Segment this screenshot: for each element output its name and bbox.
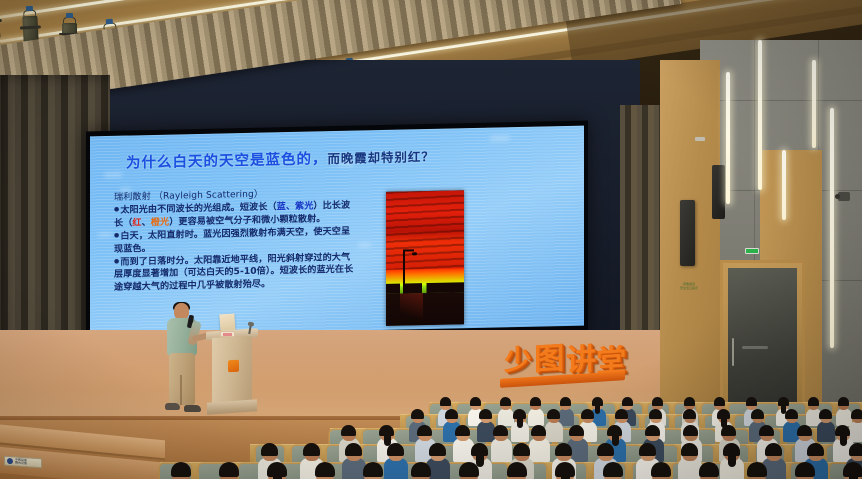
audience-member-hair [445, 409, 458, 419]
audience-member-hair [747, 462, 767, 477]
audience-member-hair [683, 425, 698, 436]
door-push-bar-icon[interactable] [742, 346, 768, 349]
audience-member-ponytail [517, 418, 523, 428]
wall-sign-line-2: 安全出口指示 [680, 287, 698, 291]
slide-title-main: 为什么白天的天空是蓝色的， [126, 151, 328, 171]
audience-member-ponytail [476, 455, 484, 468]
audience-member-hair [751, 409, 764, 419]
audience-member-hair [417, 425, 432, 436]
vertical-led-strip-2 [758, 40, 762, 190]
wall-camera-icon [838, 192, 850, 201]
exit-sign-icon [745, 248, 759, 254]
auditorium-scene: 为什么白天的天空是蓝色的，而晚霞却特别红？ 瑞利散射 （Rayleigh Sca… [0, 0, 862, 479]
audience-member-body [849, 421, 862, 442]
audience-member-hair [714, 397, 726, 406]
audience-member-hair [622, 397, 634, 406]
audience-member-hair [851, 409, 862, 419]
audience-member-hair [455, 425, 470, 436]
audience-member-hair [615, 409, 628, 419]
audience-member-hair [607, 425, 622, 436]
bullet-segment: 、 [142, 218, 151, 228]
audience-member-hair [440, 397, 452, 406]
slide-title-tail: 而晚霞却特别红？ [328, 149, 435, 166]
audience-member-ponytail [728, 455, 736, 468]
audience-member-body [491, 438, 512, 462]
audience-member-hair [835, 425, 850, 436]
audience-member-hair [808, 397, 820, 406]
audience-member-hair [843, 462, 862, 477]
slide-bullet: ●而到了日落时分。太阳靠近地平线，阳光斜射穿过的大气层厚度显著增加（可达白天的5… [114, 251, 359, 295]
bullet-marker-icon: ● [114, 206, 119, 213]
audience-member-hair [581, 409, 594, 419]
bullet-marker-icon: ● [114, 232, 119, 239]
audience-member-hair [797, 425, 812, 436]
audience-member-hair [363, 462, 383, 477]
bullet-marker-icon: ● [114, 258, 119, 265]
audience-member-hair [530, 397, 542, 406]
audience-member-hair [341, 425, 356, 436]
audience-member-hair [459, 462, 479, 477]
vertical-led-strip-1 [726, 72, 730, 204]
vertical-led-strip-3 [782, 150, 786, 220]
audience-member-body [384, 458, 408, 479]
audience-member-hair [684, 397, 696, 406]
sunset-photo-image [386, 190, 464, 326]
audience-member-hair [500, 397, 512, 406]
slide-bullet-list: ●太阳光由不同波长的光组成。短波长（蓝、紫光）比长波长（红、橙光）更容易被空气分… [114, 199, 359, 295]
audience-member-hair [267, 462, 287, 477]
bullet-segment: 而到了日落时分。太阳靠近地平线，阳光斜射穿过的大气层厚度显著增加（可达白天的5-… [114, 252, 353, 293]
audience-member-hair [652, 397, 664, 406]
audience-member-hair [645, 425, 660, 436]
audience-member-hair [507, 462, 527, 477]
audience-member-body [528, 408, 544, 427]
vertical-led-strip-5 [830, 108, 834, 348]
audience-member-hair [315, 462, 335, 477]
audience-member-hair [555, 462, 575, 477]
vertical-led-strip-4 [812, 60, 816, 148]
wall-speaker-secondary-icon [712, 165, 725, 219]
audience-member-hair [759, 425, 774, 436]
audience-member-body [817, 421, 835, 442]
audience-member-hair [838, 397, 850, 406]
bullet-segment: ）更容易被空气分子和微小颗粒散射。 [169, 214, 325, 227]
audience-member-hair [171, 462, 191, 477]
bullet-segment: 橙光 [151, 217, 169, 227]
audience-member-hair [651, 462, 671, 477]
audience-member-hair [547, 409, 560, 419]
audience-member-hair [649, 409, 662, 419]
wall-fixture-icon [695, 137, 705, 141]
wall-safety-sign: 疏散通道 安全出口指示 [678, 282, 700, 292]
audience-member-ponytail [840, 435, 847, 446]
audience-seating-area [0, 358, 862, 479]
slide-title: 为什么白天的天空是蓝色的，而晚霞却特别红？ [126, 146, 546, 172]
audience-member-body [498, 408, 514, 427]
audience-member-hair [699, 462, 719, 477]
slide-body-text: 瑞利散射 （Rayleigh Scattering） ●太阳光由不同波长的光组成… [114, 187, 359, 296]
audience-member-hair [721, 425, 736, 436]
audience-member-hair [795, 462, 815, 477]
audience-member-body [836, 408, 852, 427]
bullet-segment: 太阳光由不同波长的光组成。短波长（ [120, 202, 276, 215]
audience-member-body [545, 421, 563, 442]
audience-member-hair [411, 409, 424, 419]
audience-member-hair [603, 462, 623, 477]
audience-member-hair [379, 425, 394, 436]
audience-member-ponytail [595, 405, 600, 413]
audience-member-hair [531, 425, 546, 436]
audience-member-hair [746, 397, 758, 406]
audience-member-ponytail [612, 435, 619, 446]
audience-member-hair [785, 409, 798, 419]
bullet-segment: 白天，太阳直射时。蓝光因强烈散射布满天空，使天空呈现蓝色。 [114, 226, 350, 254]
bullet-segment: 红 [132, 218, 141, 228]
audience-member-hair [683, 409, 696, 419]
audience-member-hair [560, 397, 572, 406]
audience-member-hair [569, 425, 584, 436]
bullet-segment: 蓝、紫光 [277, 201, 314, 212]
audience-member-body [529, 438, 550, 462]
audience-member-hair [849, 443, 862, 456]
audience-member-hair [470, 397, 482, 406]
audience-member-hair [479, 409, 492, 419]
audience-member-hair [819, 409, 832, 419]
audience-member-hair [493, 425, 508, 436]
audience-member-hair [411, 462, 431, 477]
audience-member-hair [219, 462, 239, 477]
wall-speaker-icon [680, 200, 695, 266]
